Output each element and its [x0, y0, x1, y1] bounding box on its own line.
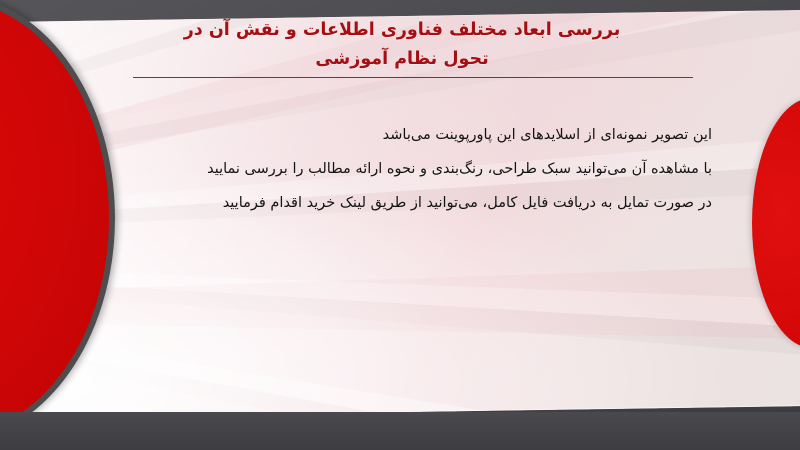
presentation-slide: بررسی ابعاد مختلف فناوری اطلاعات و نقش آ…	[0, 0, 800, 450]
slide-title-line-1: بررسی ابعاد مختلف فناوری اطلاعات و نقش آ…	[92, 16, 712, 45]
slide-title: بررسی ابعاد مختلف فناوری اطلاعات و نقش آ…	[92, 16, 712, 74]
title-underline-rule	[133, 77, 693, 78]
slide-body-line-2: با مشاهده آن می‌توانید سبک طراحی، رنگ‌بن…	[88, 152, 712, 186]
slide-body-line-3: در صورت تمایل به دریافت فایل کامل، می‌تو…	[88, 186, 712, 220]
slide-body-line-1: این تصویر نمونه‌ای از اسلایدهای این پاور…	[88, 118, 712, 152]
slide-title-line-2: تحول نظام آموزشی	[92, 45, 712, 74]
slide-text-layer: بررسی ابعاد مختلف فناوری اطلاعات و نقش آ…	[0, 0, 800, 450]
slide-body-text: این تصویر نمونه‌ای از اسلایدهای این پاور…	[88, 118, 712, 220]
